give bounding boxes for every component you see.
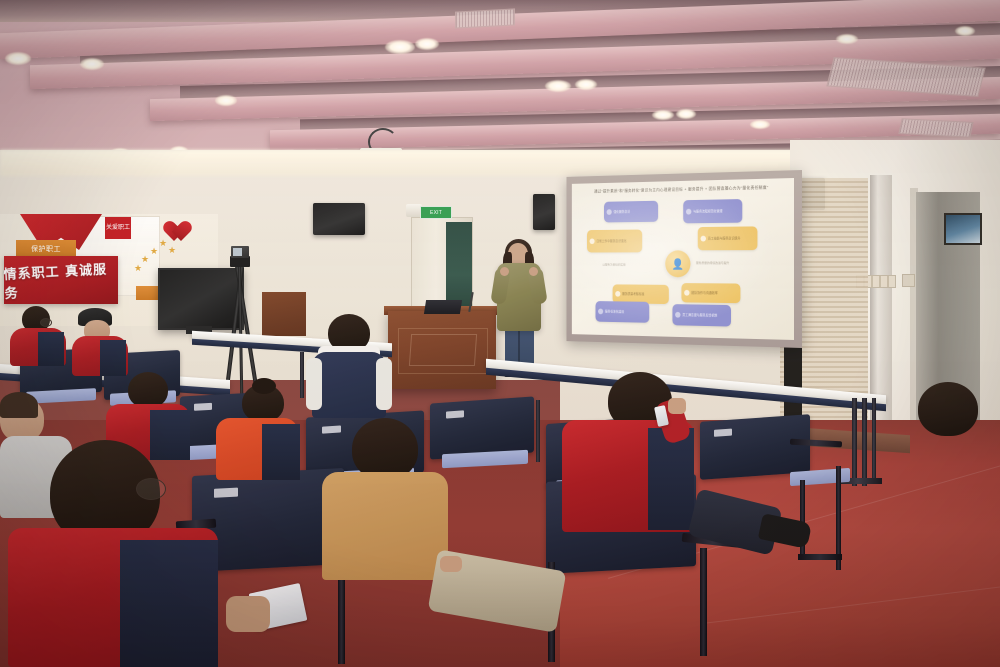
attendee-head [918, 382, 978, 436]
ceiling-light [545, 80, 571, 92]
ceiling-light [676, 109, 696, 119]
star-icon: ★ [168, 245, 176, 256]
red-calligraphy-banner: 情系职工 真诚服务 [4, 256, 118, 304]
podium-ornament [409, 334, 477, 366]
side-cabinet [262, 292, 306, 336]
slide-node: 强化服务意识 [604, 201, 658, 223]
banner-text: 情系职工 真诚服务 [3, 258, 119, 302]
slide-node-label: 服务标准化建设 [605, 310, 624, 314]
presenter-hand-right [529, 267, 538, 276]
slide-node-bullet-icon [686, 209, 691, 215]
chair-tag [214, 488, 238, 498]
slide-note: 服务质量的持续改进与提升 [696, 262, 744, 266]
slide-node-label: 团队协作与沟通效率 [691, 291, 717, 295]
slide-node: 与服务流程规范化管理 [683, 199, 742, 223]
attendee-hand [226, 596, 270, 632]
presenter-hand-left [500, 267, 509, 276]
wall-tag-red-label: 关爱职工 [106, 225, 130, 231]
attendee-hair-bun [252, 378, 276, 394]
slide-node-label: 服务质量考核标准 [622, 292, 644, 296]
slide-node: 服务标准化建设 [595, 301, 649, 323]
uniform-panel [120, 540, 218, 667]
slide-node-bullet-icon [590, 238, 595, 244]
attendee-torso [312, 352, 386, 418]
slide-node-bullet-icon [675, 312, 680, 318]
chair-tag [446, 410, 464, 418]
slide-node-label: 与服务流程规范化管理 [693, 209, 722, 213]
table-leg [852, 398, 857, 486]
exit-sign-label: EXIT [430, 210, 442, 216]
uniform-panel [648, 428, 694, 530]
wall-outlet [902, 274, 915, 287]
slide-node: 员工技能与服务意识提升 [698, 226, 758, 250]
wall-tag-orange-label: 保护职工 [31, 244, 61, 254]
attendee-torso [322, 472, 448, 580]
slide-node: 日常工作中服务意识强化 [587, 230, 642, 253]
ceiling-light [750, 120, 770, 129]
projection-screen[interactable]: 通过"提升素质"和"服务转化"意识为主内心理建设目标 + 服务提升 + 团队营造… [572, 178, 794, 340]
attendee-hair [0, 392, 38, 418]
wall-tag-red: 关爱职工 [105, 217, 131, 239]
chair-tag [322, 425, 341, 433]
ceiling-light [575, 79, 597, 90]
framed-picture [944, 213, 982, 245]
table-leg [872, 398, 876, 484]
slide-node-bullet-icon [607, 209, 612, 215]
star-icon: ★ [134, 263, 142, 274]
ceiling-light [80, 58, 104, 70]
screenshot-root: EXIT 保护职工 关爱职工 情系职工 真诚服务 ★ ★ ★ ★ ★ 通过"提升… [0, 0, 1000, 667]
table-leg [862, 398, 867, 486]
ceiling-light [415, 38, 439, 50]
slide-title: 通过"提升素质"和"服务转化"意识为主内心理建设目标 + 服务提升 + 团队营造… [578, 185, 787, 195]
wall-tag-orange: 保护职工 [16, 240, 76, 257]
ceiling-light [385, 40, 415, 54]
slide-node-bullet-icon [684, 290, 689, 296]
wall-tv-monitor[interactable] [158, 268, 244, 330]
ceiling-light [652, 110, 674, 120]
attendee-hand [668, 398, 686, 414]
attendee-sleeve [306, 358, 322, 410]
attendee-head [352, 418, 418, 480]
attendee-sleeve [376, 358, 392, 410]
ceiling-light [955, 26, 975, 36]
slide-node-label: 员工技能与服务意识提升 [708, 236, 741, 240]
uniform-panel [100, 340, 126, 376]
star-icon: ★ [141, 254, 149, 265]
heart-icon [168, 222, 193, 245]
uniform-panel [262, 424, 300, 480]
slide-node-bullet-icon [701, 236, 707, 242]
ceiling-light [5, 52, 31, 65]
star-icon: ★ [150, 246, 158, 257]
attendee-hand [440, 556, 462, 572]
slide-node: 团队协作与沟通效率 [681, 283, 740, 303]
slide-node-bullet-icon [615, 291, 620, 297]
laptop[interactable] [424, 300, 462, 314]
table-leg [300, 352, 304, 398]
chair[interactable] [700, 414, 810, 480]
exit-sign: EXIT [420, 206, 452, 219]
wall-speaker [313, 203, 365, 235]
ceiling-light [215, 95, 237, 106]
table-leg [536, 400, 540, 462]
uniform-panel [150, 410, 190, 460]
chair-tag [194, 403, 212, 411]
slide-center-person-icon: 👤 [665, 250, 690, 277]
chair-tag [714, 429, 732, 437]
eyeglasses-icon [40, 318, 52, 327]
chair-leg [798, 554, 842, 560]
slide-node-label: 员工满意度与服务反馈机制 [682, 313, 717, 318]
chair-leg [700, 548, 707, 656]
wall-speaker [533, 194, 555, 230]
slide-note: 以服务为目标的实施 [602, 264, 647, 268]
air-vent [455, 8, 515, 28]
slide-node-label: 强化服务意识 [613, 210, 630, 214]
ceiling-light [836, 34, 858, 44]
star-icon: ★ [159, 238, 167, 249]
eyeglasses-icon [136, 478, 166, 500]
slide-node-bullet-icon [598, 309, 603, 315]
chair-leg [800, 480, 805, 560]
attendee-head [128, 372, 168, 408]
uniform-panel [38, 332, 64, 366]
camera-screen [233, 248, 242, 256]
slide-node-label: 日常工作中服务意识强化 [596, 239, 626, 243]
slide-node: 员工满意度与服务反馈机制 [672, 304, 731, 326]
